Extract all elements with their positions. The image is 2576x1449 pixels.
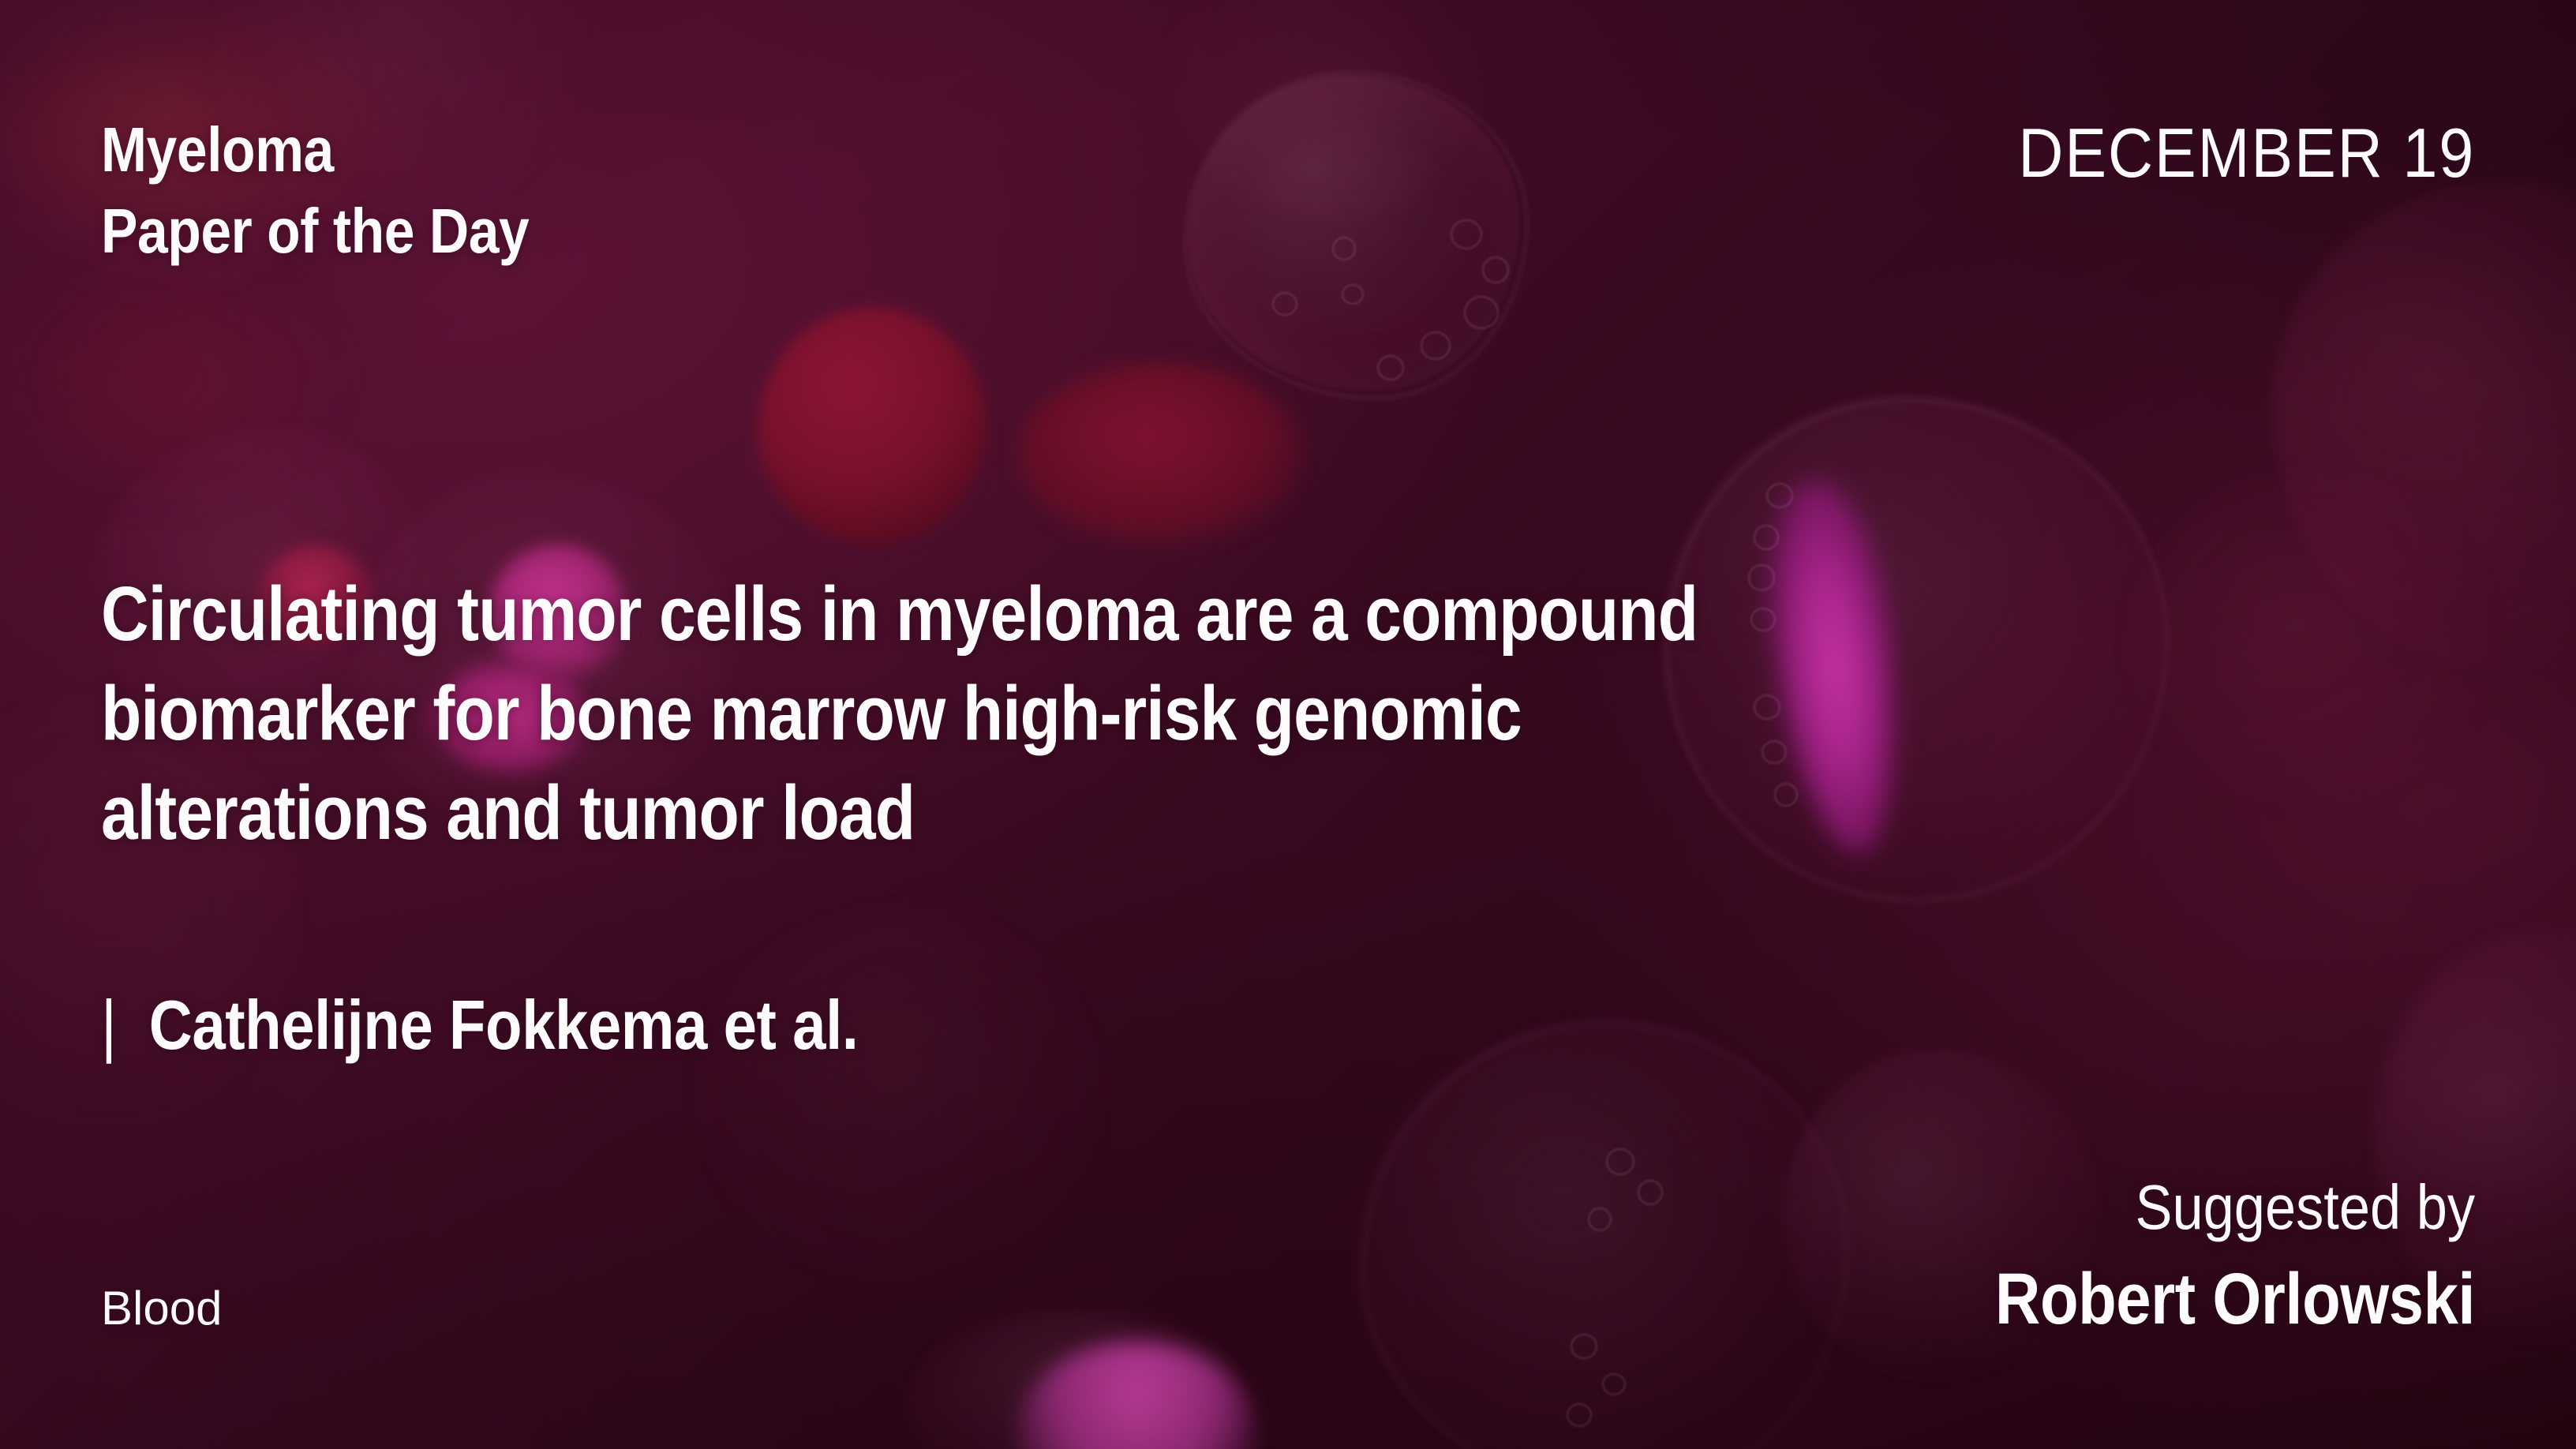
authors-separator: | <box>101 986 116 1064</box>
suggested-by-label: Suggested by <box>1986 1176 2475 1239</box>
paper-title: Circulating tumor cells in myeloma are a… <box>101 564 1698 863</box>
paper-title-line-3: alterations and tumor load <box>101 763 1698 863</box>
card-content: Myeloma Paper of the Day DECEMBER 19 Cir… <box>0 0 2576 1449</box>
paper-authors: | Cathelijne Fokkema et al. <box>101 990 859 1060</box>
brand-title-line-2: Paper of the Day <box>101 200 529 263</box>
date-text: DECEMBER 19 <box>2018 118 2475 188</box>
myeloma-paper-of-the-day-card: Myeloma Paper of the Day DECEMBER 19 Cir… <box>0 0 2576 1449</box>
paper-title-line-1: Circulating tumor cells in myeloma are a… <box>101 564 1698 664</box>
paper-title-line-2: biomarker for bone marrow high-risk geno… <box>101 664 1698 763</box>
suggested-by-name: Robert Orlowski <box>1995 1263 2475 1335</box>
brand-title-line-1: Myeloma <box>101 118 334 182</box>
suggested-by-block: Suggested by Robert Orlowski <box>1920 1176 2475 1335</box>
authors-names: Cathelijne Fokkema et al. <box>149 986 859 1064</box>
date-badge: DECEMBER 19 <box>1968 118 2475 188</box>
journal-name: Blood <box>101 1285 222 1332</box>
